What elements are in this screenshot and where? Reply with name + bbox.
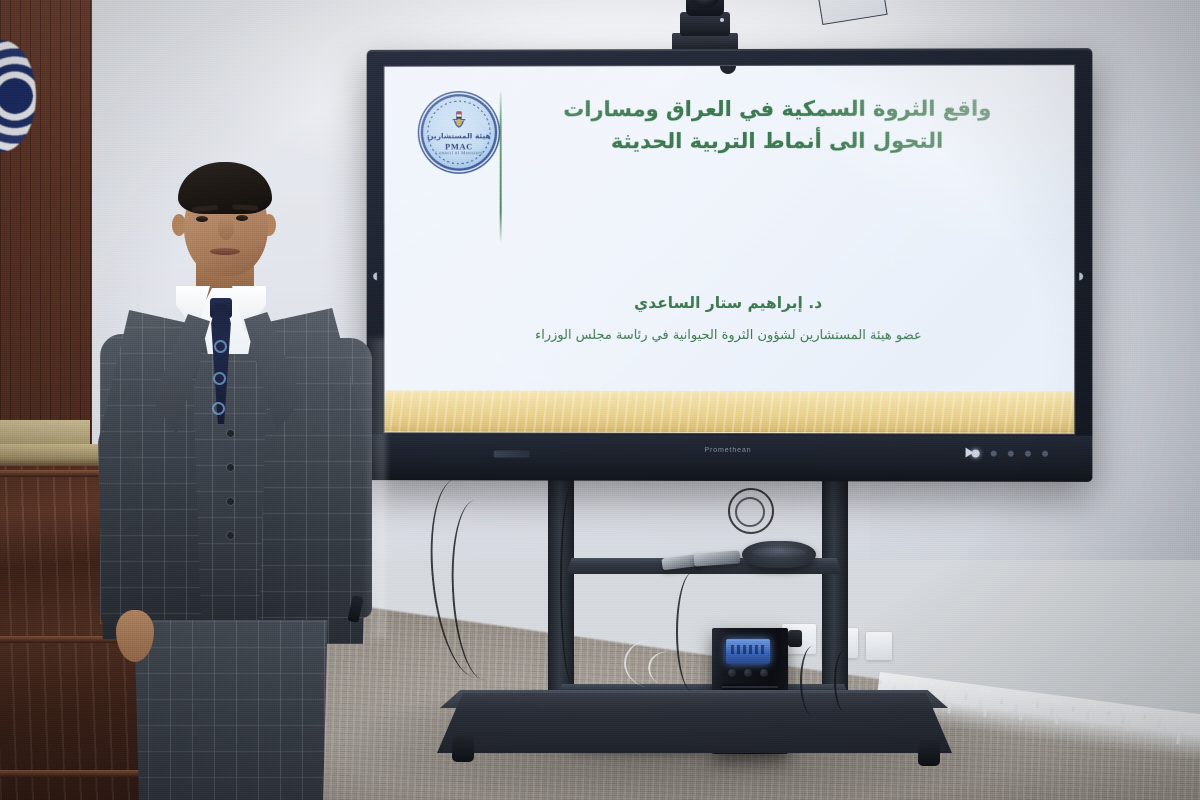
- wall-drip: [1143, 711, 1147, 719]
- waistcoat-button-1: [227, 430, 234, 437]
- power-led-indicator: [972, 450, 980, 458]
- ir-receiver: [494, 450, 530, 457]
- waistcoat-button-4: [227, 532, 234, 539]
- presenter-waistcoat: [190, 354, 270, 622]
- slide-title-divider: [500, 92, 502, 242]
- presenter-rim-light: [364, 338, 386, 638]
- ups-button-row[interactable]: [728, 669, 768, 677]
- ups-mute-button[interactable]: [744, 669, 752, 677]
- tie-motif-2: [213, 372, 226, 385]
- presentation-slide: هيئة المستشارين PMAC Council of Minister…: [385, 65, 1075, 433]
- display-bezel-chin: Promethean: [367, 434, 1093, 482]
- wall-drip: [1176, 716, 1183, 745]
- slide-content: هيئة المستشارين PMAC Council of Minister…: [385, 65, 1075, 391]
- menu-key[interactable]: [991, 451, 997, 457]
- cart-caster-left: [452, 736, 474, 762]
- slide-footer-band: [385, 390, 1075, 433]
- wall-drip: [1090, 704, 1096, 728]
- slide-presenter-role: عضو هيئة المستشارين لشؤون الثروة الحيوان…: [418, 328, 1040, 344]
- wall-drip: [1085, 703, 1090, 720]
- presenter-mouth: [210, 248, 240, 255]
- display-brand-label: Promethean: [704, 447, 751, 454]
- camera-status-led: [720, 18, 724, 22]
- seal-english-subtitle: Council of Ministers: [435, 151, 482, 156]
- presenter-trousers: [126, 620, 336, 800]
- cart-caster-right: [918, 740, 940, 766]
- ups-test-button[interactable]: [760, 669, 768, 677]
- wall-drip: [1126, 709, 1132, 732]
- outlet-cable-2: [834, 650, 856, 712]
- wall-drip: [1157, 713, 1162, 728]
- pmac-seal-logo: هيئة المستشارين PMAC Council of Minister…: [423, 96, 495, 168]
- wall-drip: [1055, 699, 1061, 724]
- wall-drip: [1107, 706, 1111, 715]
- waistcoat-button-2: [227, 464, 234, 471]
- tie-motif-1: [214, 340, 227, 353]
- photograph-scene: ····· ▭▭▭: [0, 0, 1200, 800]
- seal-acronym: PMAC: [445, 141, 473, 151]
- slide-logo-area: هيئة المستشارين PMAC Council of Minister…: [418, 92, 499, 168]
- wall-drip: [1050, 699, 1055, 717]
- wall-drip: [1121, 708, 1126, 724]
- slide-presenter-name: د. إبراهيم ستار الساعدي: [418, 294, 1040, 312]
- slide-title: واقع الثروة السمكية في العراق ومسارات ال…: [507, 91, 1040, 158]
- wall-drip: [1072, 701, 1076, 711]
- presenter-hair: [178, 162, 272, 214]
- wall-drip: [1162, 714, 1168, 736]
- wall-drip: [964, 687, 969, 700]
- wall-drip: [1036, 697, 1040, 708]
- wall-drip: [878, 676, 882, 684]
- volume-up-key[interactable]: [1025, 451, 1031, 457]
- outlet-cable-1: [800, 646, 826, 716]
- display-control-keys[interactable]: [972, 450, 1048, 458]
- volume-down-key[interactable]: [1008, 451, 1014, 457]
- iraq-coat-of-arms-icon: [450, 110, 469, 132]
- slide-header: هيئة المستشارين PMAC Council of Minister…: [418, 91, 1040, 242]
- tie-motif-3: [212, 402, 225, 415]
- ups-power-button[interactable]: [728, 669, 736, 677]
- waistcoat-button-3: [227, 498, 234, 505]
- conference-speakerphone[interactable]: [742, 541, 816, 568]
- presenter-nose: [218, 216, 234, 240]
- seal-arabic-text: هيئة المستشارين: [427, 132, 491, 141]
- wall-outlet-3[interactable]: [866, 632, 892, 660]
- coiled-cable-inner: [735, 497, 765, 527]
- presenter-eye-left: [196, 216, 208, 222]
- power-plug-1: [788, 630, 802, 647]
- presenter-person: [92, 158, 392, 800]
- column-cable: [560, 486, 584, 682]
- display-screen[interactable]: هيئة المستشارين PMAC Council of Minister…: [385, 65, 1075, 433]
- ups-lcd-display: [726, 639, 770, 664]
- input-key[interactable]: [1042, 451, 1048, 457]
- interactive-flat-panel-display[interactable]: هيئة المستشارين PMAC Council of Minister…: [367, 48, 1093, 482]
- ir-marker-right: ◗: [1078, 271, 1088, 281]
- cart-base: [437, 693, 952, 753]
- presenter-eye-right: [236, 215, 248, 221]
